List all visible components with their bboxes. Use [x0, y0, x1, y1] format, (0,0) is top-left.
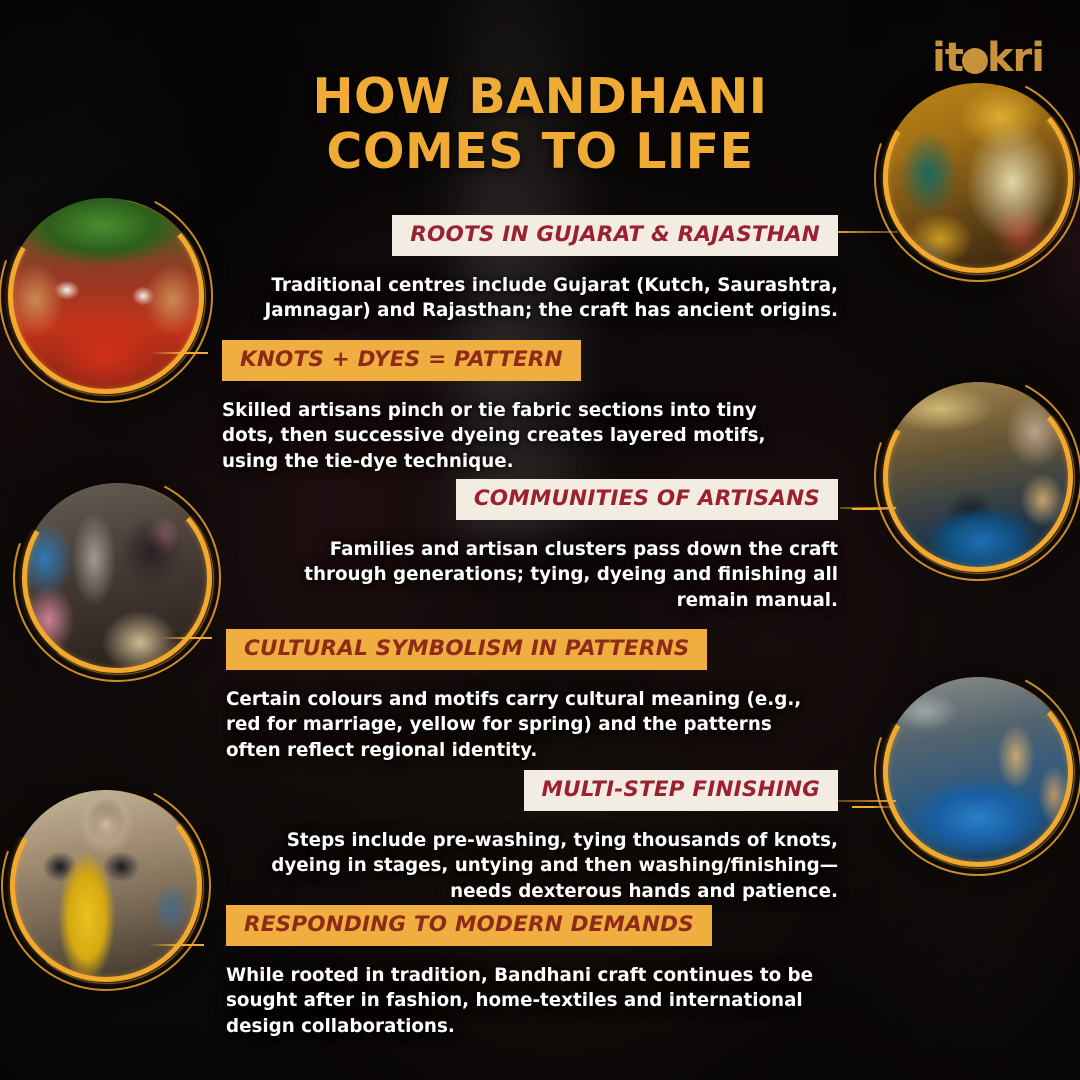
logo-circle-glyph	[962, 48, 988, 74]
itokri-logo[interactable]: itkri	[932, 38, 1044, 78]
section-body-knots: Skilled artisans pinch or tie fabric sec…	[222, 398, 810, 476]
section-label-roots: ROOTS IN GUJARAT & RAJASTHAN	[392, 215, 838, 256]
section-label-finishing: MULTI-STEP FINISHING	[524, 770, 838, 811]
section-label-knots: KNOTS + DYES = PATTERN	[222, 340, 581, 381]
section-body-roots: Traditional centres include Gujarat (Kut…	[250, 273, 838, 325]
section-finishing: MULTI-STEP FINISHING Steps include pre-w…	[250, 770, 838, 905]
section-roots: ROOTS IN GUJARAT & RAJASTHAN Traditional…	[250, 215, 838, 324]
itokri-logo-text: itkri	[932, 35, 1044, 81]
section-communities: COMMUNITIES OF ARTISANS Families and art…	[250, 479, 838, 614]
section-label-communities: COMMUNITIES OF ARTISANS	[456, 479, 838, 520]
section-body-finishing: Steps include pre-washing, tying thousan…	[250, 828, 838, 906]
section-label-modern: RESPONDING TO MODERN DEMANDS	[226, 905, 712, 946]
section-body-communities: Families and artisan clusters pass down …	[250, 537, 838, 615]
section-label-symbolism: CULTURAL SYMBOLISM IN PATTERNS	[226, 629, 707, 670]
section-modern: RESPONDING TO MODERN DEMANDS While roote…	[226, 905, 814, 1040]
section-knots: KNOTS + DYES = PATTERN Skilled artisans …	[222, 340, 810, 475]
section-symbolism: CULTURAL SYMBOLISM IN PATTERNS Certain c…	[226, 629, 814, 764]
infographic-poster: itkri HOW BANDHANI COMES TO LIFE ROOTS I…	[0, 0, 1080, 1080]
section-body-symbolism: Certain colours and motifs carry cultura…	[226, 687, 814, 765]
section-body-modern: While rooted in tradition, Bandhani craf…	[226, 963, 814, 1041]
